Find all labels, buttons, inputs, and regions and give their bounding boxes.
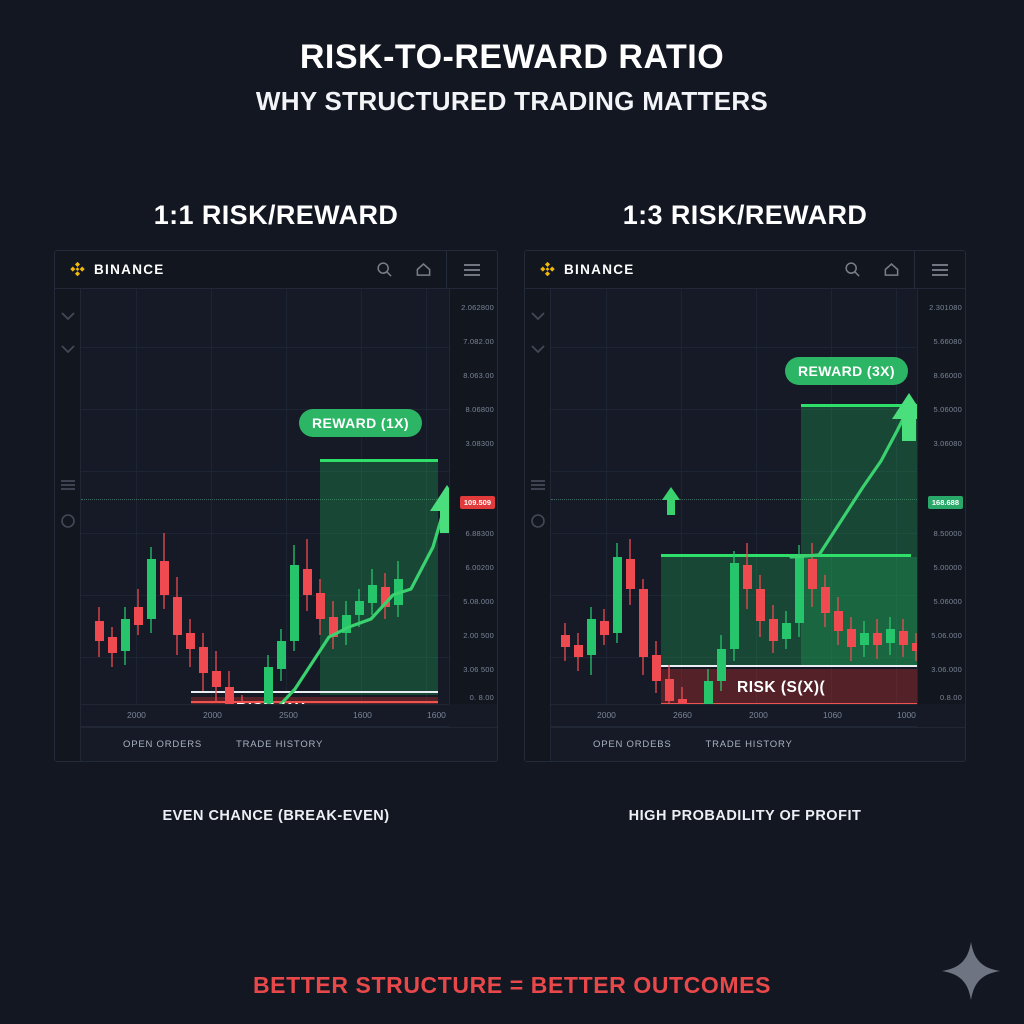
x-axis-left[interactable]: 2000 2000 2500 1600 1600 [81, 704, 449, 727]
tab-open-orders[interactable]: OPEN ORDEBS [593, 739, 671, 750]
x-tick: 1000 [897, 710, 916, 720]
hamburger-icon[interactable] [463, 263, 481, 277]
y-axis-right[interactable]: 2.301080 5.66080 8.66000 5.06000 3.06080… [917, 289, 965, 704]
home-icon[interactable] [415, 261, 432, 278]
y-tick: 5.06.000 [931, 631, 962, 640]
topbar-icons-left [376, 261, 446, 278]
left-rail-left-chart [55, 289, 81, 761]
topbar-right: BINANCE [525, 251, 965, 289]
x-tick: 1060 [823, 710, 842, 720]
x-tick: 1600 [353, 710, 372, 720]
reward-badge-left: REWARD (1X) [299, 409, 422, 437]
binance-brand-left[interactable]: BINANCE [69, 261, 165, 278]
plot-area-right[interactable]: REWARD (3X) RISK (S(X)( [551, 289, 917, 704]
binance-brand-text-left: BINANCE [94, 262, 165, 277]
y-tick: 6.88300 [465, 529, 494, 538]
tabs-right: OPEN ORDEBS TRADE HISTORY [551, 727, 965, 761]
topbar-divider-right [914, 251, 915, 289]
circle-icon[interactable] [530, 513, 546, 529]
y-tick: 2.301080 [929, 303, 962, 312]
price-marker-left: 109.509 [460, 496, 495, 509]
x-axis-right[interactable]: 2000 2660 2000 1060 1000 [551, 704, 917, 727]
x-tick: 2000 [597, 710, 616, 720]
binance-logo-icon [539, 261, 556, 278]
topbar-icons-right [844, 261, 914, 278]
hamburger-icon[interactable] [60, 479, 76, 491]
y-tick: 5.06000 [933, 597, 962, 606]
binance-brand-right[interactable]: BINANCE [539, 261, 635, 278]
y-tick: 2.00 500 [463, 631, 494, 640]
circle-icon[interactable] [60, 513, 76, 529]
x-tick: 1600 [427, 710, 446, 720]
x-tick: 2000 [127, 710, 146, 720]
reward-badge-right: REWARD (3X) [785, 357, 908, 385]
y-tick: 6.00200 [465, 563, 494, 572]
chart-window-left[interactable]: BINANCE [54, 250, 498, 762]
x-tick: 2000 [749, 710, 768, 720]
search-icon[interactable] [844, 261, 861, 278]
panel-heading-right: 1:3 RISK/REWARD [524, 200, 966, 231]
chevron-down-icon[interactable] [60, 344, 76, 354]
topbar-left: BINANCE [55, 251, 497, 289]
tab-trade-history[interactable]: TRADE HISTORY [236, 739, 323, 750]
y-tick: 0.8.00 [940, 693, 962, 702]
y-tick: 3.06 500 [463, 665, 494, 674]
search-icon[interactable] [376, 261, 393, 278]
chevron-down-icon[interactable] [530, 311, 546, 321]
sparkle-icon [940, 940, 1002, 1002]
plot-area-left[interactable]: REWARD (1X) RISK (1X [81, 289, 449, 704]
tab-trade-history[interactable]: TRADE HISTORY [705, 739, 792, 750]
y-tick: 3.06080 [933, 439, 962, 448]
hamburger-icon[interactable] [931, 263, 949, 277]
y-tick: 5.06000 [933, 405, 962, 414]
candles-right [551, 289, 917, 704]
infographic-stage: RISK-TO-REWARD RATIO WHY STRUCTURED TRAD… [0, 0, 1024, 1024]
left-rail-right-chart [525, 289, 551, 761]
y-tick: 3.08300 [465, 439, 494, 448]
hamburger-icon[interactable] [530, 479, 546, 491]
x-tick: 2500 [279, 710, 298, 720]
binance-brand-text-right: BINANCE [564, 262, 635, 277]
footer-tagline: BETTER STRUCTURE = BETTER OUTCOMES [0, 972, 1024, 999]
x-tick: 2000 [203, 710, 222, 720]
binance-logo-icon [69, 261, 86, 278]
y-tick: 7.082.00 [463, 337, 494, 346]
y-axis-left[interactable]: 2.062800 7.082.00 8.063.00 8.06800 3.083… [449, 289, 497, 704]
page-subtitle: WHY STRUCTURED TRADING MATTERS [0, 86, 1024, 117]
x-tick: 2660 [673, 710, 692, 720]
y-tick: 5.00000 [933, 563, 962, 572]
price-marker-right: 168.688 [928, 496, 963, 509]
chevron-down-icon[interactable] [530, 344, 546, 354]
y-tick: 5.66080 [933, 337, 962, 346]
panel-caption-right: HIGH PROBADILITY OF PROFIT [524, 808, 966, 824]
risk-label-right: RISK (S(X)( [737, 679, 825, 697]
y-tick: 8.06800 [465, 405, 494, 414]
panel-caption-left: EVEN CHANCE (BREAK-EVEN) [54, 808, 498, 824]
page-title: RISK-TO-REWARD RATIO [0, 38, 1024, 77]
panel-heading-left: 1:1 RISK/REWARD [54, 200, 498, 231]
y-tick: 8.063.00 [463, 371, 494, 380]
y-tick: 8.66000 [933, 371, 962, 380]
y-tick: 0. 8.00 [470, 693, 494, 702]
y-tick: 5.08.000 [463, 597, 494, 606]
home-icon[interactable] [883, 261, 900, 278]
chevron-down-icon[interactable] [60, 311, 76, 321]
tabs-left: OPEN ORDERS TRADE HISTORY [81, 727, 497, 761]
y-tick: 8.50000 [933, 529, 962, 538]
candles-left [81, 289, 449, 704]
topbar-divider-left [446, 251, 447, 289]
chart-window-right[interactable]: BINANCE [524, 250, 966, 762]
tab-open-orders[interactable]: OPEN ORDERS [123, 739, 202, 750]
y-tick: 3.06.000 [931, 665, 962, 674]
y-tick: 2.062800 [461, 303, 494, 312]
